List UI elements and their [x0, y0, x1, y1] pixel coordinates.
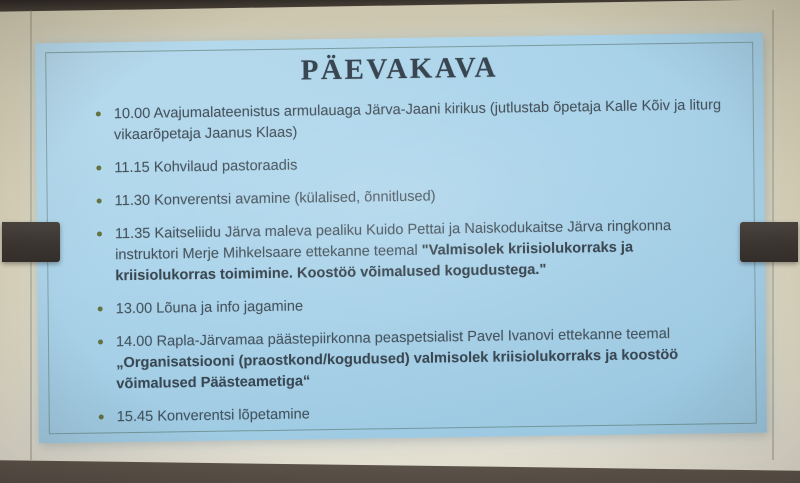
agenda-item: 11.15 Kohvilaud pastoraadis [94, 149, 730, 179]
agenda-item: 11.35 Kaitseliidu Järva maleva pealiku K… [95, 215, 732, 287]
bullet-dot-icon [96, 111, 101, 116]
agenda-item-emphasis: „Organisatsiooni (praostkond/kogudused) … [116, 347, 678, 392]
ceiling-band [0, 0, 800, 12]
agenda-item: 13.00 Lõuna ja info jagamine [96, 290, 732, 320]
agenda-item: 14.00 Rapla-Järvamaa päästepiirkonna pea… [96, 323, 733, 395]
bullet-dot-icon [98, 339, 103, 344]
agenda-item: 15.45 Konverentsi lõpetamine [97, 398, 733, 428]
agenda-item-text: 13.00 Lõuna ja info jagamine [116, 298, 304, 317]
projected-slide: PÄEVAKAVA 10.00 Avajumalateenistus armul… [35, 33, 767, 444]
bullet-dot-icon [96, 165, 101, 170]
agenda-item: 11.30 Konverentsi avamine (külalised, õn… [95, 182, 731, 212]
bullet-dot-icon [98, 306, 103, 311]
floor-band [0, 460, 800, 483]
slide-content: PÄEVAKAVA 10.00 Avajumalateenistus armul… [35, 33, 767, 444]
bullet-dot-icon [97, 198, 102, 203]
wall-bracket-right [740, 222, 798, 262]
agenda-item-text: 15.45 Konverentsi lõpetamine [117, 406, 310, 425]
bullet-dot-icon [97, 231, 102, 236]
agenda-item: 10.00 Avajumalateenistus armulauaga Järv… [94, 95, 730, 146]
wall-bracket-left [2, 222, 60, 262]
agenda-item-text: 11.15 Kohvilaud pastoraadis [114, 157, 297, 176]
slide-title: PÄEVAKAVA [35, 49, 763, 92]
agenda-item-text: 11.30 Konverentsi avamine (külalised, õn… [115, 188, 436, 209]
agenda-item-text: 14.00 Rapla-Järvamaa päästepiirkonna pea… [116, 326, 670, 350]
photographed-room-scene: PÄEVAKAVA 10.00 Avajumalateenistus armul… [0, 0, 800, 483]
bullet-dot-icon [99, 414, 104, 419]
agenda-item-text: 10.00 Avajumalateenistus armulauaga Järv… [114, 97, 721, 143]
agenda-list: 10.00 Avajumalateenistus armulauaga Järv… [36, 84, 767, 429]
